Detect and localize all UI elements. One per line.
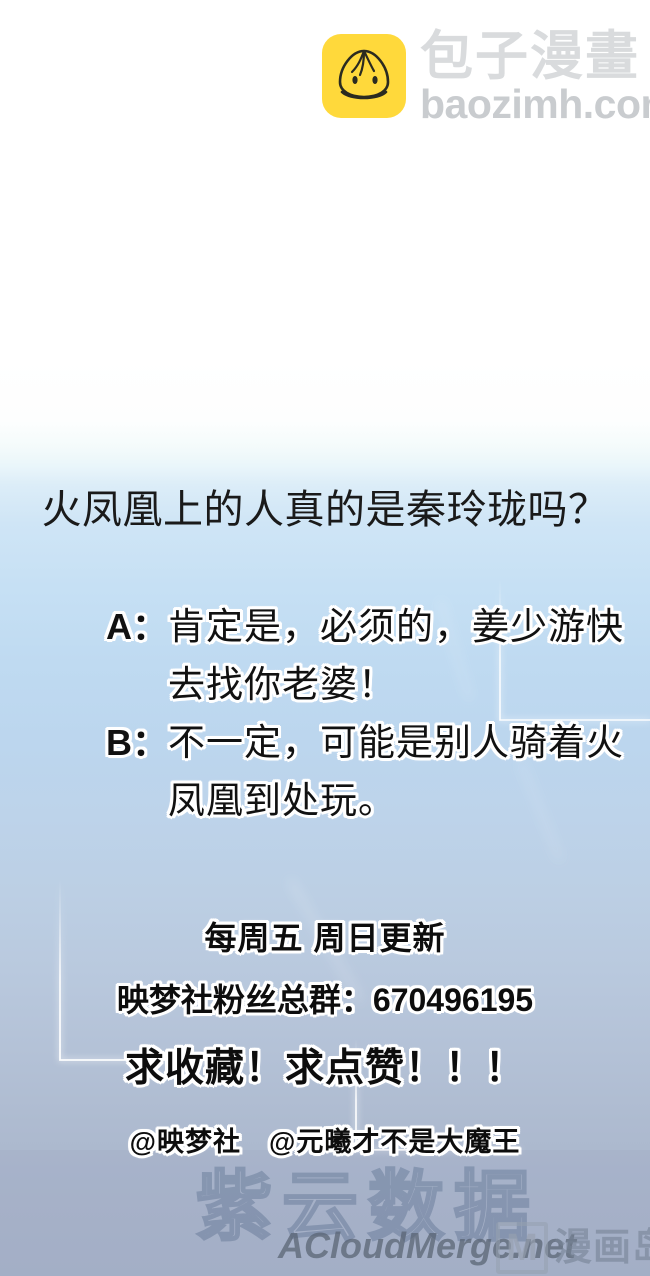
option-b-line-1: 不一定，可能是别人骑着火 xyxy=(168,716,624,770)
option-a-key: A： xyxy=(106,600,168,654)
update-schedule: 每周五 周日更新 xyxy=(0,916,650,960)
author-credits: @映梦社 @元曦才不是大魔王 xyxy=(0,1122,650,1162)
baozi-bun-glyph xyxy=(330,42,398,110)
watermark-mandao: M 漫画岛 xyxy=(496,1222,644,1276)
poll-option-b[interactable]: B： 不一定，可能是别人骑着火 xyxy=(0,716,650,774)
fan-group-info: 映梦社粉丝总群：670496195 xyxy=(0,978,650,1022)
option-a-line-1: 肯定是，必须的，姜少游快 xyxy=(168,600,624,654)
poll-options: A： 肯定是，必须的，姜少游快 去找你老婆！ B： 不一定，可能是别人骑着火 凤… xyxy=(0,600,650,832)
mandao-label: 漫画岛 xyxy=(554,1226,650,1270)
option-b-key: B： xyxy=(106,716,168,770)
call-to-action: 求收藏！求点赞！！！ xyxy=(0,1043,650,1095)
poll-option-a-cont: 去找你老婆！ xyxy=(0,658,650,716)
option-b-line-2: 凤凰到处玩。 xyxy=(168,774,396,828)
site-domain: baozimh.com xyxy=(420,82,650,126)
site-logo: 包子漫畫 baozimh.com xyxy=(322,30,642,130)
poll-option-a[interactable]: A： 肯定是，必须的，姜少游快 xyxy=(0,600,650,658)
poll-option-b-cont: 凤凰到处玩。 xyxy=(0,774,650,832)
site-brand-name: 包子漫畫 xyxy=(420,28,640,86)
poll-question: 火凤凰上的人真的是秦玲珑吗？ xyxy=(0,484,650,536)
comic-page: 包子漫畫 baozimh.com 火凤凰上的人真的是秦玲珑吗？ A： 肯定是，必… xyxy=(0,0,650,1276)
option-a-line-2: 去找你老婆！ xyxy=(168,658,396,712)
baozi-bun-icon xyxy=(322,34,406,118)
mandao-m-badge-icon: M xyxy=(496,1222,548,1274)
